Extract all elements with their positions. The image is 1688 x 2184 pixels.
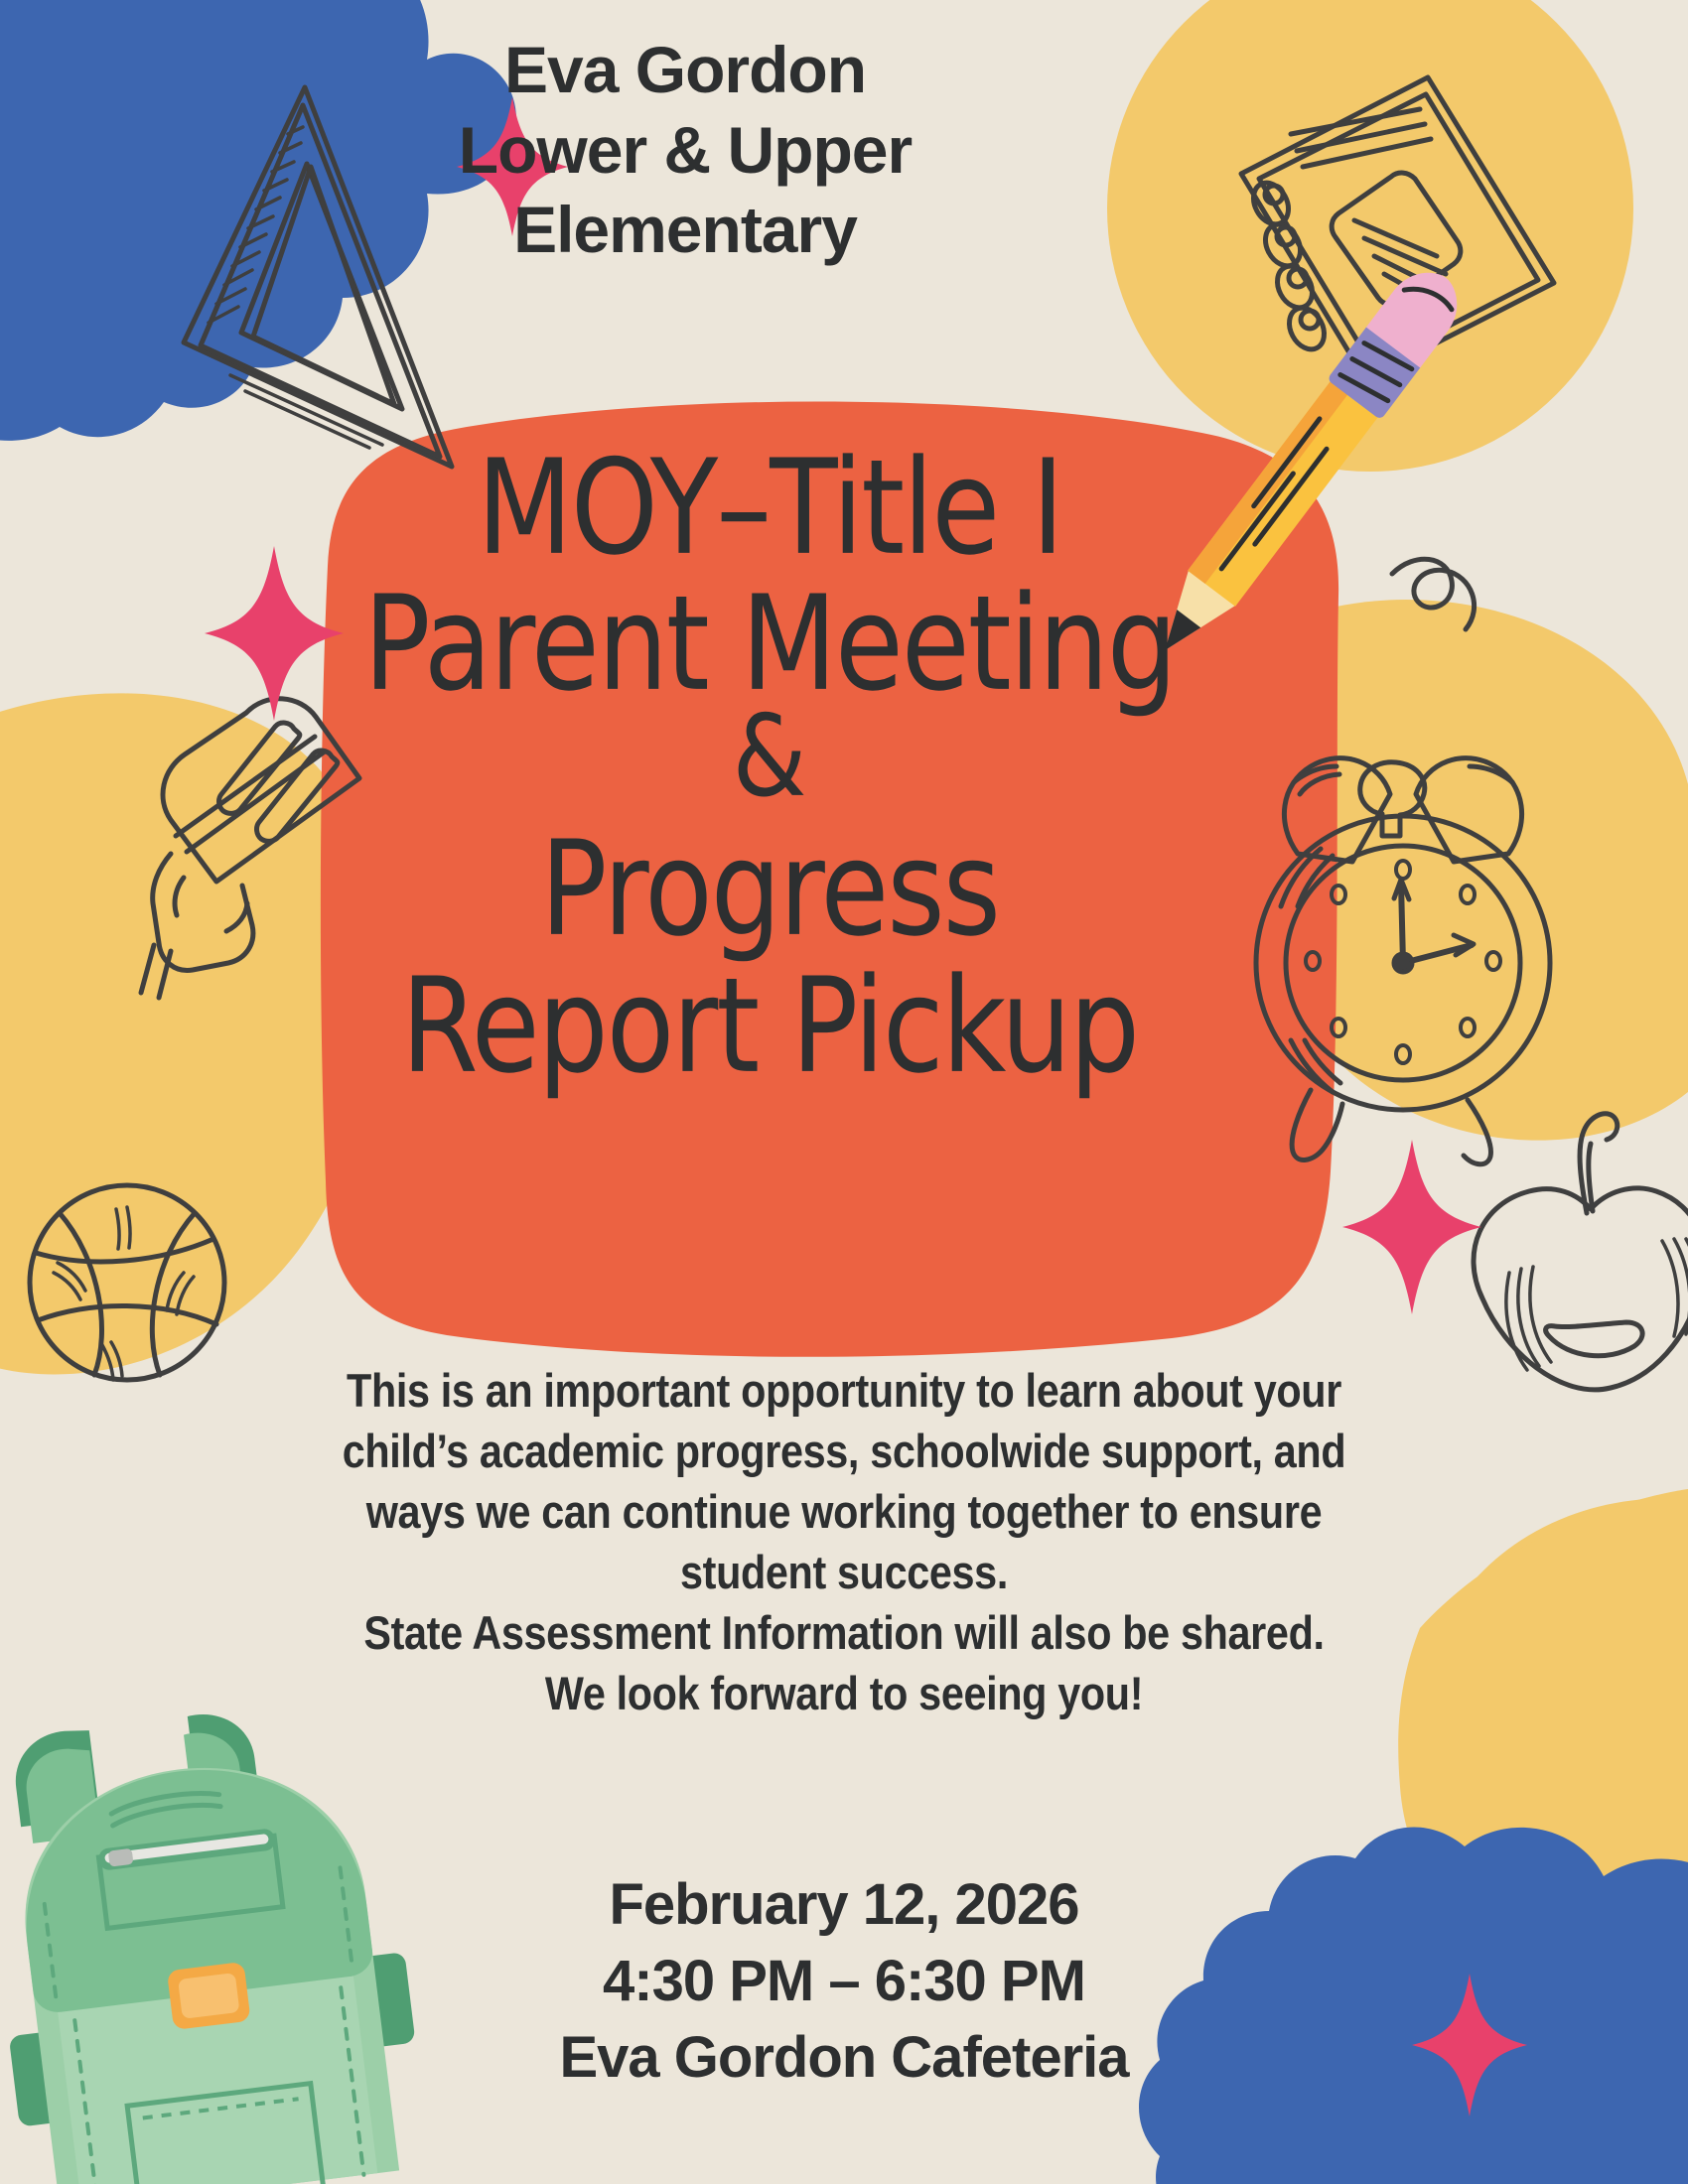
title-line-5: Report Pickup <box>268 955 1271 1099</box>
body-line-4: student success. <box>223 1542 1465 1602</box>
title-line-4: Progress <box>268 818 1271 962</box>
alarm-clock-icon <box>1256 758 1550 1164</box>
flyer-poster: Eva Gordon Lower & Upper Elementary MOY–… <box>0 0 1688 2184</box>
pink-sparkle-bottom <box>1412 1974 1527 2116</box>
title-ampersand: & <box>268 701 1271 813</box>
school-header-line-3: Elementary <box>377 190 993 270</box>
school-header-line-1: Eva Gordon <box>377 30 993 110</box>
body-line-3: ways we can continue working together to… <box>223 1481 1465 1542</box>
apple-icon <box>1474 1114 1688 1390</box>
pink-sparkle-right <box>1342 1140 1481 1314</box>
title-line-1: MOY–Title I <box>268 437 1271 581</box>
school-header: Eva Gordon Lower & Upper Elementary <box>377 30 993 270</box>
event-location: Eva Gordon Cafeteria <box>338 2019 1350 2096</box>
page-title: MOY–Title I Parent Meeting & Progress Re… <box>268 437 1271 1091</box>
body-copy: This is an important opportunity to lear… <box>139 1360 1549 1724</box>
body-line-5: State Assessment Information will also b… <box>223 1602 1465 1663</box>
school-header-line-2: Lower & Upper <box>377 110 993 191</box>
swirl-doodle-icon <box>1392 559 1475 629</box>
body-line-2: child’s academic progress, schoolwide su… <box>223 1421 1465 1481</box>
event-date: February 12, 2026 <box>338 1866 1350 1943</box>
basketball-icon <box>30 1185 224 1380</box>
event-time: 4:30 PM – 6:30 PM <box>338 1943 1350 2019</box>
body-line-1: This is an important opportunity to lear… <box>223 1360 1465 1421</box>
event-details: February 12, 2026 4:30 PM – 6:30 PM Eva … <box>338 1866 1350 2096</box>
body-line-6: We look forward to seeing you! <box>223 1663 1465 1723</box>
